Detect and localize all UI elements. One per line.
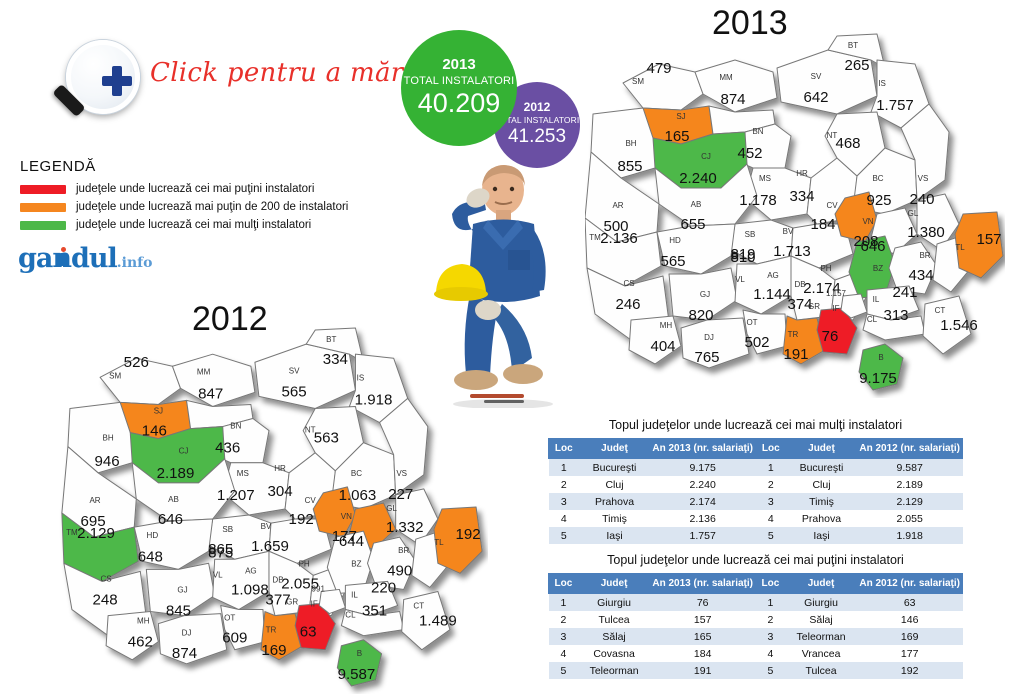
- logo-figure-icon: [58, 247, 69, 267]
- cell-loc-2012: 5: [755, 662, 785, 679]
- cell-loc-2013: 5: [549, 527, 580, 544]
- cell-val-2012: 169: [857, 628, 963, 645]
- cell-val-2013: 2.174: [650, 493, 756, 510]
- svg-text:IL: IL: [873, 295, 880, 304]
- cell-judet-2012: Sălaj: [785, 611, 857, 628]
- cell-judet-2013: Sălaj: [578, 628, 650, 645]
- total-2013-value: 40.209: [418, 88, 501, 119]
- svg-text:BR: BR: [919, 251, 930, 260]
- svg-text:502: 502: [744, 334, 769, 351]
- svg-text:PH: PH: [299, 559, 310, 568]
- plus-icon-vertical: [112, 66, 122, 96]
- svg-text:565: 565: [660, 253, 685, 270]
- cell-loc-2012: 4: [755, 645, 785, 662]
- svg-text:246: 246: [615, 296, 640, 313]
- svg-text:304: 304: [267, 483, 292, 500]
- cell-loc-2012: 4: [755, 510, 786, 527]
- cell-judet-2013: Giurgiu: [578, 594, 650, 612]
- table-row[interactable]: 5 Teleorman 191 5 Tulcea 192: [549, 662, 963, 679]
- svg-text:9.175: 9.175: [859, 370, 897, 387]
- svg-text:OT: OT: [224, 614, 235, 623]
- svg-text:AB: AB: [168, 495, 179, 504]
- svg-text:655: 655: [680, 216, 705, 233]
- svg-text:IL: IL: [351, 590, 358, 599]
- svg-text:313: 313: [883, 307, 908, 324]
- svg-text:334: 334: [789, 188, 814, 205]
- svg-text:452: 452: [737, 145, 762, 162]
- map-2013-svg: SM479 MM874 SV642 BT265 IS1.757 SJ165 BN…: [585, 28, 1005, 398]
- svg-text:MH: MH: [137, 617, 150, 626]
- svg-text:PH: PH: [820, 264, 831, 273]
- svg-text:SJ: SJ: [154, 406, 163, 415]
- svg-text:DB: DB: [272, 575, 283, 584]
- cell-judet-2012: Cluj: [786, 476, 857, 493]
- svg-text:BR: BR: [398, 546, 409, 555]
- cell-judet-2013: Tulcea: [578, 611, 650, 628]
- svg-text:BT: BT: [326, 335, 336, 344]
- logo-suffix: .info: [117, 255, 153, 271]
- table-row[interactable]: 3 Sălaj 165 3 Teleorman 169: [549, 628, 963, 645]
- table-row[interactable]: 1 Bucureşti 9.175 1 Bucureşti 9.587: [549, 459, 963, 477]
- svg-text:SM: SM: [632, 77, 644, 86]
- svg-text:CL: CL: [867, 315, 878, 324]
- svg-text:B: B: [878, 353, 883, 362]
- cell-loc-2012: 2: [755, 476, 786, 493]
- legend-label-fewest: judeţele unde lucrează cei mai puţini in…: [76, 183, 314, 195]
- cell-judet-2013: Prahova: [579, 493, 650, 510]
- svg-text:BV: BV: [261, 522, 272, 531]
- table-row[interactable]: 3 Prahova 2.174 3 Timiş 2.129: [549, 493, 963, 510]
- table-row[interactable]: 4 Timiş 2.136 4 Prahova 2.055: [549, 510, 963, 527]
- svg-text:241: 241: [892, 284, 917, 301]
- legend: LEGENDĂ judeţele unde lucrează cei mai p…: [20, 158, 350, 235]
- svg-text:820: 820: [688, 307, 713, 324]
- svg-text:184: 184: [810, 216, 835, 233]
- svg-text:192: 192: [455, 526, 480, 543]
- table-most-title: Topul judeţelor unde lucrează cei mai mu…: [548, 418, 963, 432]
- svg-text:1.098: 1.098: [231, 581, 269, 598]
- svg-text:946: 946: [95, 453, 120, 470]
- romania-map-2012[interactable]: SM526 MM847 SV565 BT334 IS1.918 SJ146 BN…: [58, 322, 488, 694]
- cell-judet-2012: Vrancea: [785, 645, 857, 662]
- cell-judet-2012: Prahova: [786, 510, 857, 527]
- legend-item-fewest: judeţele unde lucrează cei mai puţini in…: [20, 181, 350, 197]
- svg-text:334: 334: [323, 351, 348, 368]
- cell-loc-2012: 3: [755, 628, 785, 645]
- svg-text:875: 875: [208, 544, 233, 561]
- svg-text:MM: MM: [197, 367, 211, 376]
- svg-text:MM: MM: [719, 73, 733, 82]
- total-2012-value: 41.253: [508, 126, 566, 149]
- svg-text:VS: VS: [396, 469, 407, 478]
- svg-text:2.136: 2.136: [600, 230, 638, 247]
- svg-text:VN: VN: [862, 217, 873, 226]
- cell-judet-2012: Teleorman: [785, 628, 857, 645]
- cell-val-2013: 2.136: [650, 510, 756, 527]
- legend-title: LEGENDĂ: [20, 158, 350, 175]
- svg-text:BV: BV: [783, 227, 794, 236]
- svg-text:2.129: 2.129: [77, 525, 115, 542]
- cell-loc-2012: 1: [755, 594, 785, 612]
- cell-judet-2012: Tulcea: [785, 662, 857, 679]
- svg-text:1.918: 1.918: [355, 391, 393, 408]
- svg-text:63: 63: [300, 624, 317, 641]
- svg-text:DB: DB: [794, 280, 805, 289]
- svg-text:AG: AG: [767, 271, 779, 280]
- svg-text:IS: IS: [878, 79, 886, 88]
- svg-text:CJ: CJ: [179, 447, 189, 456]
- th-an-2013: An 2013 (nr. salariaţi): [650, 574, 756, 594]
- svg-text:1.757: 1.757: [876, 97, 914, 114]
- svg-text:2.189: 2.189: [157, 465, 195, 482]
- svg-text:MS: MS: [237, 469, 249, 478]
- svg-text:CJ: CJ: [701, 152, 711, 161]
- svg-text:644: 644: [339, 533, 364, 550]
- total-2013-circle: 2013 TOTAL INSTALATORI 40.209: [401, 30, 517, 146]
- legend-swatch-red: [20, 185, 66, 194]
- svg-text:146: 146: [142, 423, 167, 440]
- table-least-installers: Topul judeţelor unde lucrează cei mai pu…: [548, 553, 963, 679]
- svg-text:157: 157: [976, 231, 1001, 248]
- svg-text:479: 479: [646, 60, 671, 77]
- table-row[interactable]: 2 Cluj 2.240 2 Cluj 2.189: [549, 476, 963, 493]
- svg-text:AR: AR: [89, 496, 100, 505]
- cell-loc-2012: 1: [755, 459, 786, 477]
- svg-text:SV: SV: [289, 366, 300, 375]
- total-2013-year: 2013: [442, 57, 475, 74]
- svg-text:1.144: 1.144: [753, 286, 791, 303]
- svg-text:1.332: 1.332: [386, 519, 424, 536]
- legend-swatch-green: [20, 221, 66, 230]
- svg-text:OT: OT: [746, 318, 757, 327]
- table-most-installers: Topul judeţelor unde lucrează cei mai mu…: [548, 418, 963, 544]
- table-least-header-row: Loc Judeţ An 2013 (nr. salariaţi) Loc Ju…: [549, 574, 963, 594]
- svg-text:351: 351: [362, 603, 387, 620]
- svg-text:9.587: 9.587: [338, 666, 376, 683]
- th-an-2012: An 2012 (nr. salariaţi): [857, 574, 963, 594]
- cell-loc-2013: 4: [549, 510, 580, 527]
- svg-text:855: 855: [617, 158, 642, 175]
- gandul-logo[interactable]: gandul.info: [18, 243, 153, 274]
- svg-text:SV: SV: [811, 72, 822, 81]
- svg-text:MH: MH: [660, 321, 673, 330]
- svg-text:646: 646: [860, 238, 885, 255]
- svg-text:165: 165: [664, 128, 689, 145]
- svg-text:220: 220: [371, 579, 396, 596]
- svg-text:HD: HD: [147, 531, 159, 540]
- cell-loc-2013: 1: [549, 594, 579, 612]
- svg-text:CV: CV: [826, 201, 838, 210]
- svg-text:BH: BH: [625, 139, 636, 148]
- th-an-2013: An 2013 (nr. salariaţi): [650, 439, 756, 459]
- svg-text:248: 248: [93, 592, 118, 609]
- cell-loc-2013: 4: [549, 645, 579, 662]
- cell-val-2013: 157: [650, 611, 756, 628]
- svg-text:BZ: BZ: [873, 264, 883, 273]
- svg-text:GL: GL: [386, 504, 397, 513]
- svg-text:TR: TR: [788, 330, 799, 339]
- svg-text:BN: BN: [752, 127, 763, 136]
- cell-loc-2013: 5: [549, 662, 579, 679]
- cell-val-2013: 184: [650, 645, 756, 662]
- svg-text:MS: MS: [759, 174, 771, 183]
- legend-item-most: judeţele unde lucrează cei mai mulţi ins…: [20, 217, 350, 233]
- svg-text:76: 76: [822, 328, 839, 345]
- legend-label-under200: judeţele unde lucrează mai puţin de 200 …: [76, 201, 348, 213]
- svg-text:810: 810: [730, 249, 755, 266]
- svg-text:AR: AR: [612, 201, 623, 210]
- table-row[interactable]: 4 Covasna 184 4 Vrancea 177: [549, 645, 963, 662]
- th-judet-2012: Judeţ: [786, 439, 857, 459]
- cell-judet-2012: Giurgiu: [785, 594, 857, 612]
- svg-text:1.157: 1.157: [826, 289, 847, 298]
- svg-text:490: 490: [387, 562, 412, 579]
- svg-text:404: 404: [650, 338, 675, 355]
- th-judet-2013: Judeţ: [578, 574, 650, 594]
- cell-val-2013: 165: [650, 628, 756, 645]
- svg-text:227: 227: [388, 486, 413, 503]
- th-loc-2012: Loc: [755, 574, 785, 594]
- cell-val-2012: 1.918: [857, 527, 963, 544]
- svg-text:565: 565: [282, 383, 307, 400]
- cell-judet-2013: Bucureşti: [579, 459, 650, 477]
- svg-text:1.489: 1.489: [419, 613, 457, 630]
- svg-text:BC: BC: [872, 174, 883, 183]
- svg-text:CL: CL: [345, 611, 356, 620]
- svg-text:434: 434: [908, 267, 933, 284]
- cell-val-2012: 177: [857, 645, 963, 662]
- th-loc-2012: Loc: [755, 439, 786, 459]
- table-row[interactable]: 1 Giurgiu 76 1 Giurgiu 63: [549, 594, 963, 612]
- svg-text:468: 468: [835, 135, 860, 152]
- svg-text:SB: SB: [745, 230, 756, 239]
- svg-text:HR: HR: [796, 169, 808, 178]
- th-loc-2013: Loc: [549, 439, 580, 459]
- svg-text:BC: BC: [351, 469, 362, 478]
- svg-text:HR: HR: [274, 464, 286, 473]
- svg-text:192: 192: [289, 511, 314, 528]
- svg-text:240: 240: [909, 191, 934, 208]
- total-2012-year: 2012: [524, 101, 551, 114]
- svg-text:BN: BN: [230, 422, 241, 431]
- cell-val-2012: 146: [857, 611, 963, 628]
- cell-loc-2013: 3: [549, 493, 580, 510]
- svg-text:874: 874: [720, 91, 745, 108]
- svg-text:DJ: DJ: [704, 333, 714, 342]
- svg-text:CV: CV: [305, 496, 317, 505]
- cell-loc-2013: 1: [549, 459, 580, 477]
- cell-judet-2012: Timiş: [786, 493, 857, 510]
- svg-text:265: 265: [844, 57, 869, 74]
- svg-text:IF: IF: [832, 304, 839, 313]
- cell-val-2013: 1.757: [650, 527, 756, 544]
- svg-text:2.240: 2.240: [679, 170, 717, 187]
- svg-text:1.546: 1.546: [940, 317, 978, 334]
- svg-text:169: 169: [261, 642, 286, 659]
- svg-text:B: B: [357, 649, 362, 658]
- svg-text:1.659: 1.659: [251, 538, 289, 555]
- svg-text:GR: GR: [808, 302, 820, 311]
- cell-judet-2013: Covasna: [578, 645, 650, 662]
- svg-text:1.063: 1.063: [339, 487, 377, 504]
- cell-val-2012: 9.587: [857, 459, 963, 477]
- svg-text:GR: GR: [286, 598, 298, 607]
- th-judet-2012: Judeţ: [785, 574, 857, 594]
- total-2013-caption: TOTAL INSTALATORI: [404, 74, 515, 88]
- table-row[interactable]: 2 Tulcea 157 2 Sălaj 146: [549, 611, 963, 628]
- cell-val-2012: 2.189: [857, 476, 963, 493]
- svg-text:GL: GL: [908, 209, 919, 218]
- cell-val-2013: 2.240: [650, 476, 756, 493]
- cell-val-2012: 192: [857, 662, 963, 679]
- svg-text:1.713: 1.713: [773, 243, 811, 260]
- cell-judet-2013: Cluj: [579, 476, 650, 493]
- table-row[interactable]: 5 Iaşi 1.757 5 Iaşi 1.918: [549, 527, 963, 544]
- table-most-header-row: Loc Judeţ An 2013 (nr. salariaţi) Loc Ju…: [549, 439, 963, 459]
- svg-text:CS: CS: [623, 279, 634, 288]
- svg-text:1.207: 1.207: [217, 487, 255, 504]
- svg-text:462: 462: [128, 634, 153, 651]
- cell-val-2013: 191: [650, 662, 756, 679]
- svg-text:648: 648: [138, 548, 163, 565]
- svg-text:AG: AG: [245, 566, 257, 575]
- map-2012-svg: SM526 MM847 SV565 BT334 IS1.918 SJ146 BN…: [58, 322, 488, 694]
- cell-val-2012: 2.055: [857, 510, 963, 527]
- svg-text:SJ: SJ: [676, 112, 685, 121]
- svg-text:991: 991: [312, 584, 326, 593]
- svg-text:563: 563: [314, 430, 339, 447]
- svg-text:GJ: GJ: [700, 290, 710, 299]
- svg-text:SB: SB: [222, 525, 233, 534]
- svg-text:845: 845: [166, 603, 191, 620]
- cell-loc-2012: 2: [755, 611, 785, 628]
- cell-loc-2013: 3: [549, 628, 579, 645]
- cell-judet-2013: Teleorman: [578, 662, 650, 679]
- cell-judet-2012: Bucureşti: [786, 459, 857, 477]
- svg-text:CS: CS: [101, 574, 112, 583]
- svg-text:VL: VL: [735, 275, 745, 284]
- svg-text:VS: VS: [918, 174, 929, 183]
- magnifier-plus-icon[interactable]: [48, 36, 144, 132]
- romania-map-2013[interactable]: SM479 MM874 SV642 BT265 IS1.757 SJ165 BN…: [585, 28, 1005, 398]
- svg-text:HD: HD: [669, 236, 681, 245]
- cell-judet-2013: Iaşi: [579, 527, 650, 544]
- svg-text:765: 765: [694, 349, 719, 366]
- svg-text:1.380: 1.380: [907, 224, 945, 241]
- svg-text:191: 191: [783, 346, 808, 363]
- svg-text:925: 925: [866, 192, 891, 209]
- svg-text:CT: CT: [413, 602, 424, 611]
- svg-text:TL: TL: [955, 243, 965, 252]
- svg-text:436: 436: [215, 440, 240, 457]
- svg-text:CT: CT: [935, 306, 946, 315]
- svg-text:GJ: GJ: [177, 585, 187, 594]
- legend-swatch-orange: [20, 203, 66, 212]
- cell-val-2013: 76: [650, 594, 756, 612]
- svg-text:646: 646: [158, 511, 183, 528]
- th-judet-2013: Judeţ: [579, 439, 650, 459]
- click-to-enlarge-label[interactable]: Click pentru a mări: [150, 58, 412, 88]
- svg-text:1.178: 1.178: [739, 192, 777, 209]
- cell-judet-2012: Iaşi: [786, 527, 857, 544]
- svg-text:609: 609: [222, 630, 247, 647]
- cell-val-2013: 9.175: [650, 459, 756, 477]
- th-loc-2013: Loc: [549, 574, 579, 594]
- th-an-2012: An 2012 (nr. salariaţi): [857, 439, 963, 459]
- svg-text:847: 847: [198, 385, 223, 402]
- svg-text:IS: IS: [357, 373, 365, 382]
- svg-text:TL: TL: [434, 538, 444, 547]
- legend-label-most: judeţele unde lucrează cei mai mulţi ins…: [76, 219, 311, 231]
- svg-text:VN: VN: [341, 512, 352, 521]
- svg-text:874: 874: [172, 645, 197, 662]
- table-least-title: Topul judeţelor unde lucrează cei mai pu…: [548, 553, 963, 567]
- svg-text:TR: TR: [266, 626, 277, 635]
- cell-loc-2012: 3: [755, 493, 786, 510]
- legend-item-under200: judeţele unde lucrează mai puţin de 200 …: [20, 199, 350, 215]
- svg-text:AB: AB: [691, 200, 702, 209]
- cell-loc-2012: 5: [755, 527, 786, 544]
- svg-text:BH: BH: [103, 434, 114, 443]
- svg-text:VL: VL: [213, 570, 223, 579]
- svg-text:DJ: DJ: [182, 629, 192, 638]
- svg-text:SM: SM: [109, 371, 121, 380]
- svg-text:IF: IF: [311, 600, 318, 609]
- svg-text:526: 526: [124, 354, 149, 371]
- cell-judet-2013: Timiş: [579, 510, 650, 527]
- svg-text:642: 642: [803, 89, 828, 106]
- table-least-grid[interactable]: Loc Judeţ An 2013 (nr. salariaţi) Loc Ju…: [548, 573, 963, 679]
- cell-loc-2013: 2: [549, 611, 579, 628]
- svg-text:BZ: BZ: [351, 559, 361, 568]
- worker-photo: [428, 158, 578, 408]
- cell-loc-2013: 2: [549, 476, 580, 493]
- svg-text:BT: BT: [848, 41, 858, 50]
- cell-val-2012: 63: [857, 594, 963, 612]
- cell-val-2012: 2.129: [857, 493, 963, 510]
- table-most-grid[interactable]: Loc Judeţ An 2013 (nr. salariaţi) Loc Ju…: [548, 438, 963, 544]
